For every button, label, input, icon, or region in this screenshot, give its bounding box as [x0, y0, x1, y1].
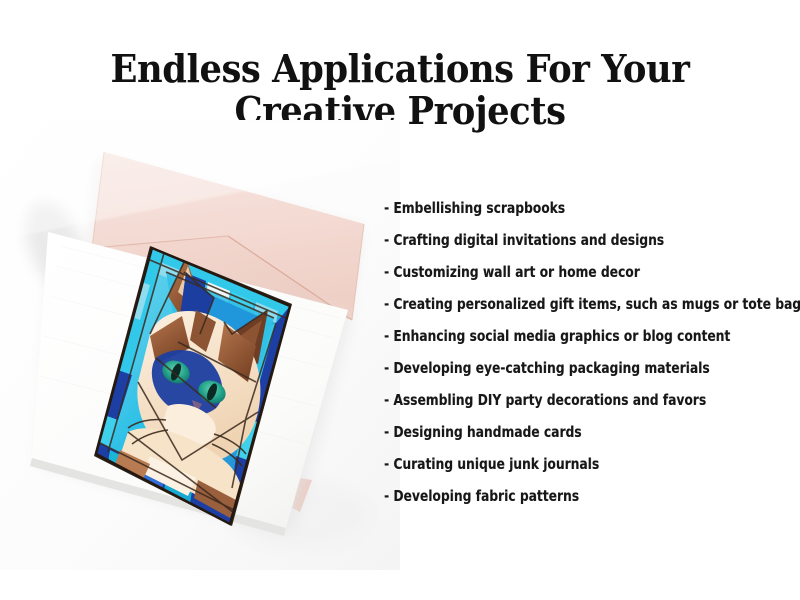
applications-list: - Embellishing scrapbooks - Crafting dig…	[384, 192, 794, 512]
product-photo-illustration	[0, 120, 400, 570]
list-item: - Customizing wall art or home decor	[384, 256, 745, 288]
list-item: - Developing eye-catching packaging mate…	[384, 352, 745, 384]
list-item: - Embellishing scrapbooks	[384, 192, 745, 224]
list-item: - Creating personalized gift items, such…	[384, 288, 745, 320]
list-item: - Assembling DIY party decorations and f…	[384, 384, 745, 416]
product-photo	[0, 120, 400, 570]
list-item: - Developing fabric patterns	[384, 480, 745, 512]
list-item: - Enhancing social media graphics or blo…	[384, 320, 745, 352]
list-item: - Crafting digital invitations and desig…	[384, 224, 745, 256]
poster-canvas: Endless Applications For Your Creative P…	[0, 0, 800, 600]
list-item: - Designing handmade cards	[384, 416, 745, 448]
page-title-line-1: Endless Applications For Your	[28, 48, 772, 90]
list-item: - Curating unique junk journals	[384, 448, 745, 480]
